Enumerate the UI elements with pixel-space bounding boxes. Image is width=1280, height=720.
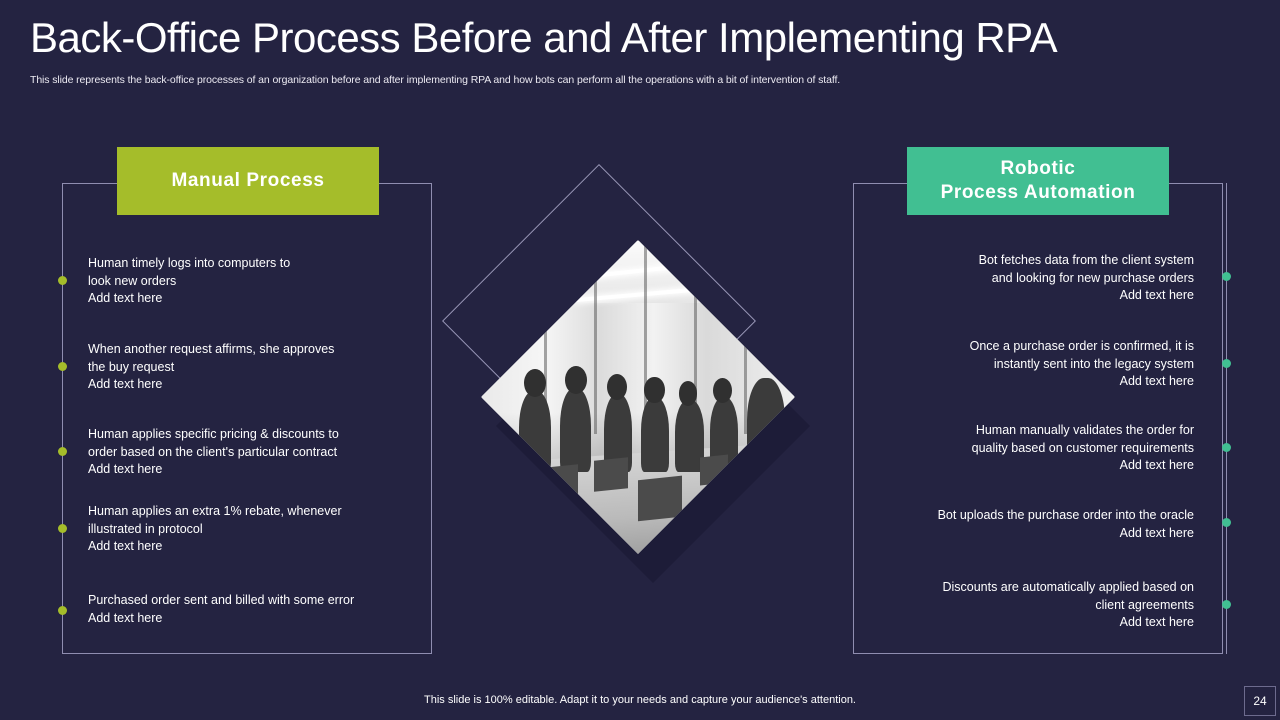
left-item-1-line1: Human timely logs into computers to	[88, 255, 418, 273]
photo-person-2-head	[565, 366, 587, 394]
right-bullet-dot-4	[1222, 518, 1231, 527]
left-item-3-line1: Human applies specific pricing & discoun…	[88, 426, 418, 444]
left-item-1-line3: Add text here	[88, 290, 418, 308]
right-list-item-5: Discounts are automatically applied base…	[830, 579, 1194, 632]
right-item-2-line3: Add text here	[830, 373, 1194, 391]
photo-person-4-head	[644, 377, 664, 404]
left-item-3-line3: Add text here	[88, 461, 418, 479]
right-item-3-line1: Human manually validates the order for	[830, 422, 1194, 440]
left-column-frame	[62, 183, 432, 654]
right-banner-label-line1: Robotic	[1001, 157, 1076, 181]
photo-person-2	[560, 388, 591, 472]
left-item-2-line1: When another request affirms, she approv…	[88, 341, 418, 359]
right-bullet-dot-5	[1222, 600, 1231, 609]
photo-laptop-3	[638, 476, 682, 521]
left-list-item-1: Human timely logs into computers to look…	[88, 255, 418, 308]
right-item-1-line2: and looking for new purchase orders	[830, 270, 1194, 288]
left-banner-label-line1: Manual Process	[171, 169, 324, 193]
right-item-4-line2: Add text here	[830, 525, 1194, 543]
right-bullet-rail	[1226, 183, 1227, 654]
right-item-5-line3: Add text here	[830, 614, 1194, 632]
right-list-item-4: Bot uploads the purchase order into the …	[830, 507, 1194, 542]
left-item-2-line3: Add text here	[88, 376, 418, 394]
right-item-2-line1: Once a purchase order is confirmed, it i…	[830, 338, 1194, 356]
left-list-item-5: Purchased order sent and billed with som…	[88, 592, 418, 627]
photo-person-6-head	[713, 378, 732, 403]
left-bullet-rail	[62, 183, 63, 654]
photo-person-1-head	[524, 369, 546, 397]
photo-person-4	[641, 397, 669, 472]
right-item-2-line2: instantly sent into the legacy system	[830, 356, 1194, 374]
left-column-banner[interactable]: Manual Process	[117, 147, 379, 215]
right-item-4-line1: Bot uploads the purchase order into the …	[830, 507, 1194, 525]
left-bullet-dot-1	[58, 276, 67, 285]
slide-canvas: Back-Office Process Before and After Imp…	[0, 0, 1280, 720]
right-item-3-line3: Add text here	[830, 457, 1194, 475]
left-item-5-line1: Purchased order sent and billed with som…	[88, 592, 418, 610]
right-item-3-line2: quality based on customer requirements	[830, 440, 1194, 458]
left-list-item-2: When another request affirms, she approv…	[88, 341, 418, 394]
right-banner-label-line2: Process Automation	[941, 181, 1136, 205]
left-item-4-line1: Human applies an extra 1% rebate, whenev…	[88, 503, 418, 521]
right-list-item-2: Once a purchase order is confirmed, it i…	[830, 338, 1194, 391]
right-item-1-line1: Bot fetches data from the client system	[830, 252, 1194, 270]
left-bullet-dot-2	[58, 362, 67, 371]
left-item-5-line2: Add text here	[88, 610, 418, 628]
right-column-banner[interactable]: Robotic Process Automation	[907, 147, 1169, 215]
page-subtitle: This slide represents the back-office pr…	[30, 74, 840, 86]
left-item-3-line2: order based on the client's particular c…	[88, 444, 418, 462]
left-bullet-dot-4	[58, 524, 67, 533]
right-item-5-line1: Discounts are automatically applied base…	[830, 579, 1194, 597]
right-bullet-dot-2	[1222, 359, 1231, 368]
left-list-item-4: Human applies an extra 1% rebate, whenev…	[88, 503, 418, 556]
right-bullet-dot-1	[1222, 272, 1231, 281]
left-bullet-dot-3	[58, 447, 67, 456]
page-number-badge: 24	[1244, 686, 1276, 716]
left-item-4-line3: Add text here	[88, 538, 418, 556]
left-bullet-dot-5	[58, 606, 67, 615]
right-list-item-3: Human manually validates the order for q…	[830, 422, 1194, 475]
footer-note: This slide is 100% editable. Adapt it to…	[0, 694, 1280, 706]
photo-person-3-head	[607, 374, 627, 401]
left-item-2-line2: the buy request	[88, 359, 418, 377]
photo-laptop-2	[594, 458, 628, 493]
right-list-item-1: Bot fetches data from the client system …	[830, 252, 1194, 305]
photo-window-mullion-5	[744, 241, 747, 434]
right-bullet-dot-3	[1222, 443, 1231, 452]
left-list-item-3: Human applies specific pricing & discoun…	[88, 426, 418, 479]
right-item-1-line3: Add text here	[830, 287, 1194, 305]
page-title: Back-Office Process Before and After Imp…	[30, 14, 1057, 62]
left-item-1-line2: look new orders	[88, 273, 418, 291]
center-diamond-graphic	[480, 210, 800, 555]
right-item-5-line2: client agreements	[830, 597, 1194, 615]
left-item-4-line2: illustrated in protocol	[88, 521, 418, 539]
